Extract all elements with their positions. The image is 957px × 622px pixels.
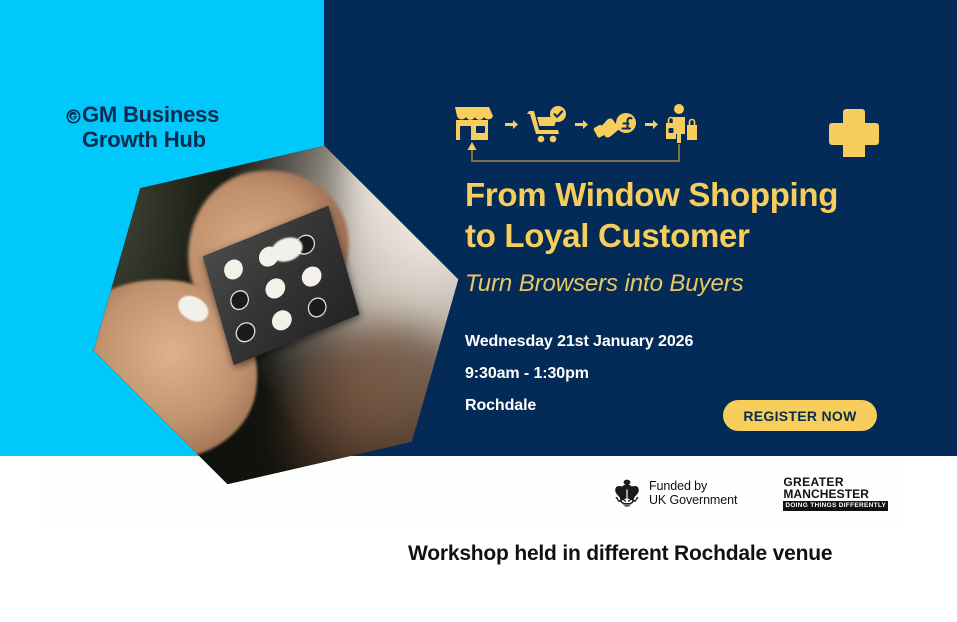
gm-logo-text: GM Business Growth Hub — [82, 103, 219, 152]
event-date: Wednesday 21st January 2026 — [465, 333, 693, 351]
footer-logos: Funded by UK Government GREATER MANCHEST… — [612, 476, 888, 511]
greater-manchester-logo: GREATER MANCHESTER DOING THINGS DIFFEREN… — [783, 476, 888, 511]
venue-note-caption: Workshop held in different Rochdale venu… — [408, 542, 832, 566]
gm-logo-strapline: DOING THINGS DIFFERENTLY — [783, 501, 888, 511]
customer-with-bags-icon — [666, 104, 697, 143]
royal-crest-icon — [612, 477, 642, 509]
plus-badge-decoration — [828, 105, 880, 157]
funded-by-uk-government-logo: Funded by UK Government — [612, 477, 737, 509]
event-time: 9:30am - 1:30pm — [465, 365, 693, 383]
arrow-right-icon — [645, 120, 658, 129]
page-title: From Window Shopping to Loyal Customer — [465, 175, 895, 257]
hand-pound-coin-icon — [593, 113, 636, 138]
register-now-button[interactable]: REGISTER NOW — [723, 400, 877, 431]
page-subtitle: Turn Browsers into Buyers — [465, 270, 895, 298]
arrow-right-icon — [575, 120, 588, 129]
shopping-cart-check-icon — [527, 106, 566, 142]
event-location: Rochdale — [465, 397, 693, 415]
event-details: Wednesday 21st January 2026 9:30am - 1:3… — [465, 333, 693, 415]
funded-by-uk-government-text: Funded by UK Government — [649, 479, 737, 509]
gm-logo-line2: MANCHESTER — [783, 488, 888, 500]
arrow-right-icon — [505, 120, 518, 129]
plus-badge-icon — [828, 105, 880, 157]
shop-front-icon — [455, 107, 493, 140]
customer-journey-icons — [451, 101, 701, 171]
return-loop-arrow-head — [468, 142, 477, 150]
gm-circle-g-icon — [66, 109, 81, 124]
gm-business-growth-hub-logo: GM Business Growth Hub — [66, 103, 219, 152]
return-loop-arrow-icon — [472, 144, 679, 161]
